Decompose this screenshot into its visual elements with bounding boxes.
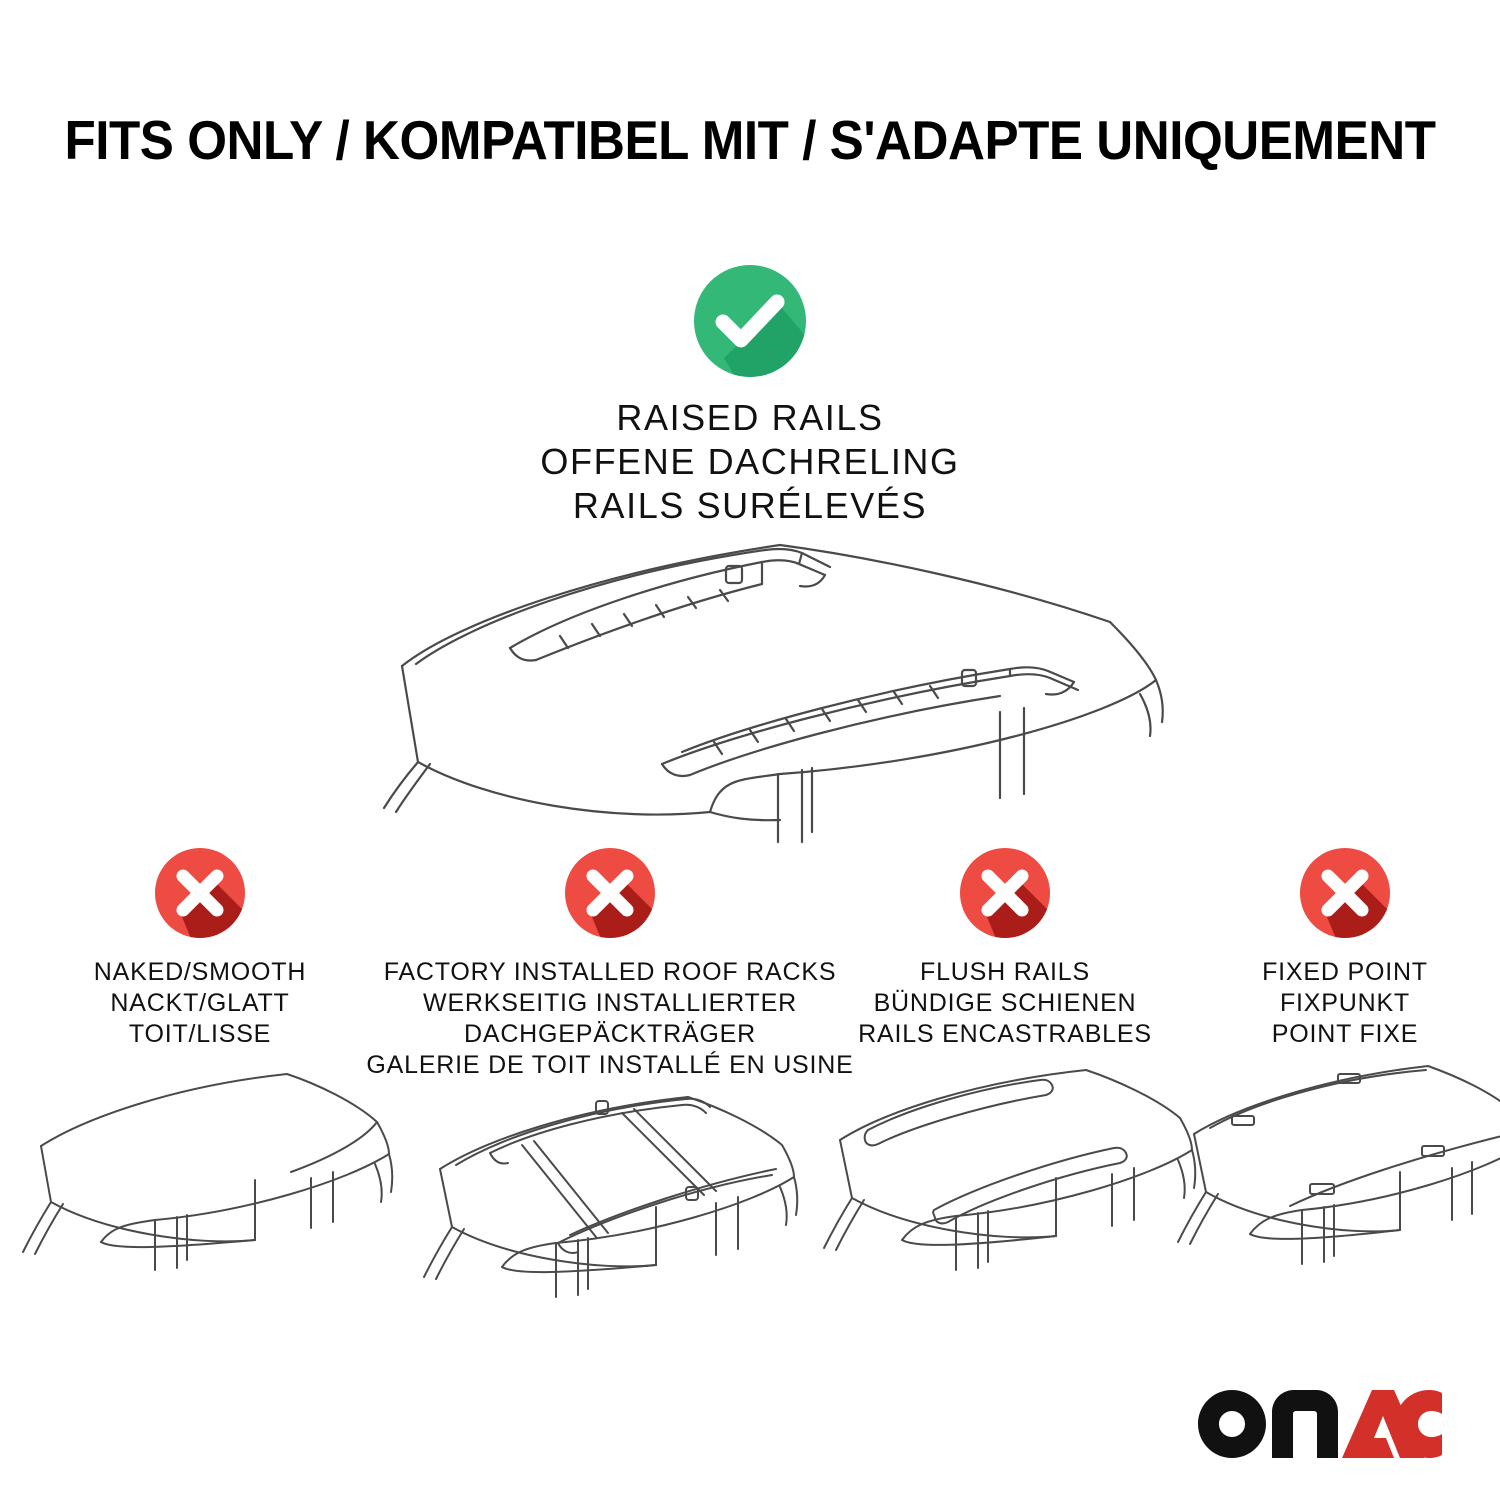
page-title: FITS ONLY / KOMPATIBEL MIT / S'ADAPTE UN… — [53, 108, 1448, 172]
red-x-circle-icon — [1297, 845, 1393, 941]
label-line: GALERIE DE TOIT INSTALLÉ EN USINE — [366, 1050, 853, 1081]
fitment-infographic: FITS ONLY / KOMPATIBEL MIT / S'ADAPTE UN… — [0, 0, 1500, 1500]
label-line: FLUSH RAILS — [858, 957, 1152, 988]
compatible-section: RAISED RAILS OFFENE DACHRELING RAILS SUR… — [250, 262, 1250, 528]
raised-rails-illustration — [310, 512, 1190, 852]
x-icon-wrap-2 — [957, 845, 1053, 957]
label-line: POINT FIXE — [1262, 1019, 1428, 1050]
label-line: FIXED POINT — [1262, 957, 1428, 988]
logo-letter-m — [1272, 1390, 1338, 1458]
incompatible-item-flush-rails: FLUSH RAILS BÜNDIGE SCHIENEN RAILS ENCAS… — [820, 845, 1190, 1331]
green-check-circle-icon — [691, 262, 809, 380]
red-x-circle-icon — [152, 845, 248, 941]
incompatible-item-factory-roof-racks: FACTORY INSTALLED ROOF RACKS WERKSEITIG … — [400, 845, 820, 1331]
label-line: FACTORY INSTALLED ROOF RACKS — [366, 957, 853, 988]
x-icon-wrap-0 — [152, 845, 248, 957]
incompatible-label-2: FLUSH RAILS BÜNDIGE SCHIENEN RAILS ENCAS… — [858, 957, 1152, 1050]
label-line: DACHGEPÄCKTRÄGER — [366, 1019, 853, 1050]
label-line: TOIT/LISSE — [94, 1019, 306, 1050]
incompatible-item-fixed-point: FIXED POINT FIXPUNKT POINT FIXE — [1190, 845, 1500, 1331]
label-line: WERKSEITIG INSTALLIERTER — [366, 988, 853, 1019]
label-line: NACKT/GLATT — [94, 988, 306, 1019]
label-line: RAILS ENCASTRABLES — [858, 1019, 1152, 1050]
logo-letter-o — [1198, 1390, 1266, 1458]
x-icon-wrap-3 — [1297, 845, 1393, 957]
compatible-label: RAISED RAILS OFFENE DACHRELING RAILS SUR… — [250, 396, 1250, 528]
label-line: NAKED/SMOOTH — [94, 957, 306, 988]
omac-logo-mark — [1198, 1390, 1442, 1458]
compatible-label-line-1: RAISED RAILS — [250, 396, 1250, 440]
compatible-icon-wrap — [250, 262, 1250, 382]
incompatible-label-0: NAKED/SMOOTH NACKT/GLATT TOIT/LISSE — [94, 957, 306, 1050]
omac-logo — [1198, 1390, 1442, 1458]
label-line: BÜNDIGE SCHIENEN — [858, 988, 1152, 1019]
flush-rails-illustration — [810, 1060, 1200, 1300]
fixed-point-illustration — [1170, 1060, 1500, 1300]
incompatible-item-naked-smooth: NAKED/SMOOTH NACKT/GLATT TOIT/LISSE — [0, 845, 400, 1331]
label-line: FIXPUNKT — [1262, 988, 1428, 1019]
red-x-circle-icon — [957, 845, 1053, 941]
incompatible-label-3: FIXED POINT FIXPUNKT POINT FIXE — [1262, 957, 1428, 1050]
x-icon-wrap-1 — [562, 845, 658, 957]
incompatible-label-1: FACTORY INSTALLED ROOF RACKS WERKSEITIG … — [366, 957, 853, 1081]
factory-roof-racks-illustration — [410, 1091, 810, 1331]
red-x-circle-icon — [562, 845, 658, 941]
incompatible-section: NAKED/SMOOTH NACKT/GLATT TOIT/LISSE — [0, 845, 1500, 1331]
naked-roof-illustration — [5, 1060, 395, 1300]
compatible-label-line-2: OFFENE DACHRELING — [250, 440, 1250, 484]
